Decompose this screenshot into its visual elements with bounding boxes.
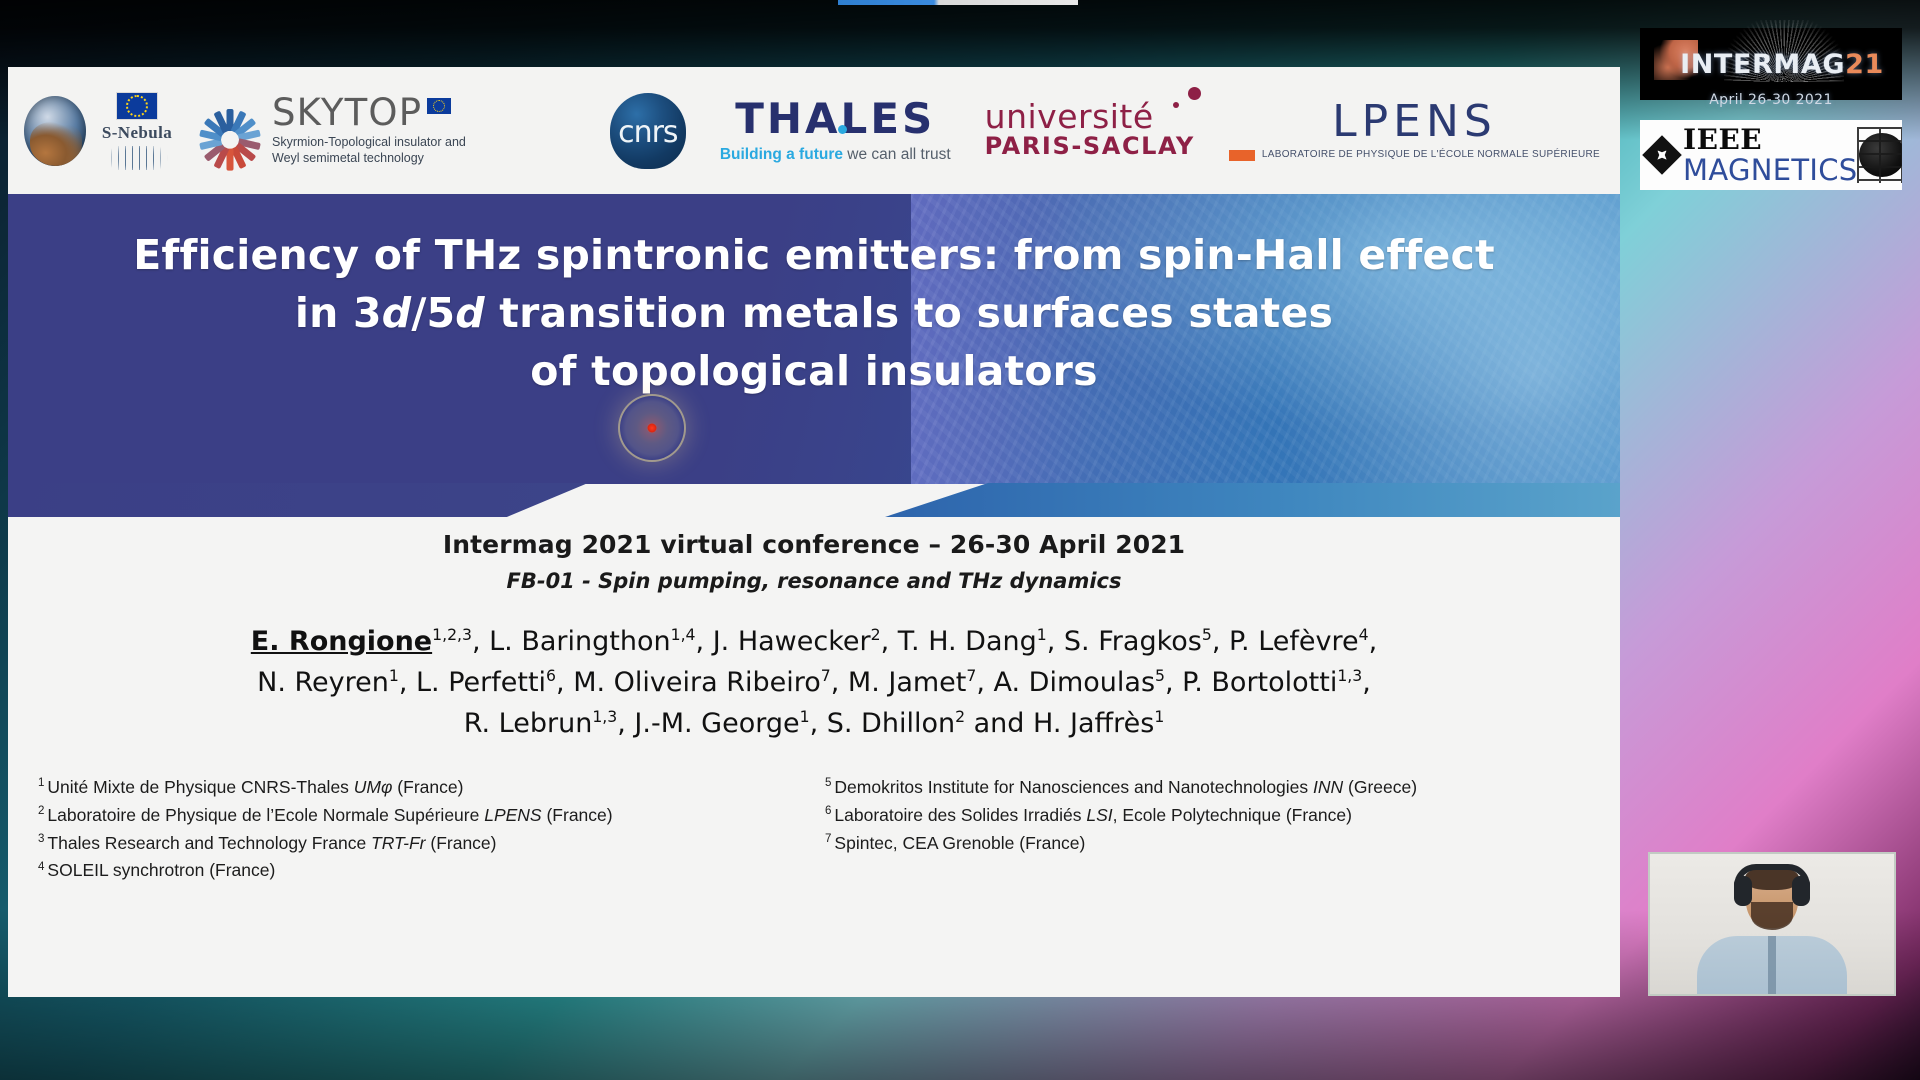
skytop-swirl-icon (198, 96, 262, 166)
author-sup: 1 (389, 666, 399, 685)
affiliation-sup: 7 (825, 833, 831, 845)
title-line-2-italic-d2: d (455, 289, 485, 337)
slide-logo-strip: S-Nebula SKYTOP Skyrmion-Topological ins… (8, 67, 1620, 194)
screen-share-indicator (838, 0, 1078, 5)
affiliation-sup: 4 (38, 861, 44, 873)
author-name: S. Fragkos (1064, 626, 1202, 657)
affiliation-item: 4SOLEIL synchrotron (France) (38, 857, 803, 884)
title-line-1: Efficiency of THz spintronic emitters: f… (133, 231, 1495, 279)
author-name: L. Perfetti (416, 667, 546, 698)
thales-wordmark: THALES (735, 98, 935, 140)
author-name: J. Hawecker (713, 626, 871, 657)
ieee-magnetics-logo: IEEE MAGNETICS (1640, 120, 1902, 190)
author-sup: 1,3 (1337, 666, 1362, 685)
author-sup: 1,4 (671, 625, 696, 644)
ieee-diamond-icon (1642, 135, 1682, 175)
ieee-globe-icon (1857, 127, 1902, 183)
affiliation-country: (France) (392, 777, 463, 797)
author-sup: 1 (1037, 625, 1047, 644)
intermag-wordmark: INTERMAG21 (1680, 49, 1884, 80)
thales-tagline-rest: we can all trust (843, 146, 951, 163)
affiliation-block: 1Unité Mixte de Physique CNRS-Thales UMφ… (34, 774, 1594, 885)
lpens-subtitle: LABORATOIRE DE PHYSIQUE DE L'ÉCOLE NORMA… (1262, 149, 1600, 162)
affiliation-text: SOLEIL synchrotron (France) (47, 860, 275, 880)
intermag-logo: INTERMAG21 (1640, 28, 1902, 100)
author-line-2: N. Reyren1, L. Perfetti6, M. Oliveira Ri… (34, 662, 1594, 703)
author-sup: 1,3 (592, 707, 617, 726)
skytop-logo: SKYTOP Skyrmion-Topological insulator an… (198, 94, 477, 166)
affiliation-sup: 2 (38, 805, 44, 817)
affiliation-sup: 5 (825, 777, 831, 789)
s-nebula-logo: S-Nebula (24, 92, 180, 170)
thales-tagline: Building a future we can all trust (720, 147, 951, 163)
saclay-line2: PARIS-SACLAY (985, 133, 1195, 161)
lead-author-name: E. Rongione (251, 626, 432, 657)
ieee-wordmark-block: IEEE MAGNETICS (1683, 126, 1857, 185)
presenter-shirt-placket (1768, 936, 1776, 994)
laser-pointer-cursor (620, 396, 684, 460)
affiliation-acronym: UMφ (354, 777, 393, 797)
screen-share-stage: S-Nebula SKYTOP Skyrmion-Topological ins… (0, 0, 1920, 1080)
saclay-bubble-small-icon (1173, 102, 1179, 108)
affiliation-country: (Greece) (1343, 777, 1417, 797)
author-sup: 2 (955, 707, 965, 726)
title-line-2-italic-d1: d (382, 289, 412, 337)
saclay-bubble-icon (1188, 87, 1201, 100)
lpens-subtitle-row: LABORATOIRE DE PHYSIQUE DE L'ÉCOLE NORMA… (1229, 149, 1600, 162)
author-sup: 7 (821, 666, 831, 685)
intermag-dates: April 26-30 2021 (1640, 92, 1902, 108)
lpens-wordmark: LPENS (1332, 100, 1497, 144)
author-sup: 5 (1202, 625, 1212, 644)
s-nebula-label: S-Nebula (102, 123, 172, 143)
affiliation-item: 6Laboratoire des Solides Irradiés LSI, E… (825, 802, 1590, 829)
thales-logo: THALES Building a future we can all trus… (720, 98, 951, 163)
s-nebula-text-block: S-Nebula (94, 92, 180, 170)
affiliation-item: 5Demokritos Institute for Nanosciences a… (825, 774, 1590, 801)
presenter-beard (1751, 902, 1793, 930)
author-sup: 1 (1154, 707, 1164, 726)
presentation-slide: S-Nebula SKYTOP Skyrmion-Topological ins… (8, 67, 1620, 997)
affiliation-acronym: LPENS (484, 805, 541, 825)
title-line-2a: in 3 (295, 289, 382, 337)
affiliation-item: 3Thales Research and Technology France T… (38, 830, 803, 857)
affiliation-column-right: 5Demokritos Institute for Nanosciences a… (825, 774, 1590, 885)
affiliation-text: Demokritos Institute for Nanosciences an… (834, 777, 1313, 797)
title-band-notch-right (885, 483, 1620, 517)
slide-title-band: Efficiency of THz spintronic emitters: f… (8, 194, 1620, 484)
affiliation-text: Unité Mixte de Physique CNRS-Thales (47, 777, 353, 797)
author-name: H. Jaffrès (1033, 708, 1154, 739)
presenter-video-tile[interactable] (1648, 852, 1896, 996)
universite-paris-saclay-logo: université PARIS-SACLAY (985, 100, 1195, 161)
cnrs-logo: cnrs (610, 93, 686, 169)
title-line-3: of topological insulators (530, 347, 1097, 395)
author-name: N. Reyren (257, 667, 389, 698)
affiliation-sup: 3 (38, 833, 44, 845)
logo-group-left: S-Nebula SKYTOP Skyrmion-Topological ins… (8, 92, 478, 170)
cnrs-wordmark: cnrs (618, 115, 677, 150)
affiliation-column-left: 1Unité Mixte de Physique CNRS-Thales UMφ… (38, 774, 803, 885)
saclay-line1: université (985, 100, 1154, 133)
author-sup: 6 (546, 666, 556, 685)
intermag-word-main: INTERMAG (1680, 49, 1845, 80)
affiliation-country: , Ecole Polytechnique (France) (1113, 805, 1352, 825)
skytop-subtitle: Skyrmion-Topological insulator and Weyl … (272, 135, 477, 166)
author-name: R. Lebrun (464, 708, 593, 739)
title-line-2c: transition metals to surfaces states (485, 289, 1333, 337)
author-line-1: E. Rongione1,2,3, L. Baringthon1,4, J. H… (34, 621, 1594, 662)
intermag-word-year: 21 (1845, 49, 1884, 80)
eu-flag-icon (427, 98, 451, 114)
affiliation-sup: 1 (38, 777, 44, 789)
author-line-3: R. Lebrun1,3, J.-M. George1, S. Dhillon2… (34, 703, 1594, 744)
affiliation-acronym: INN (1313, 777, 1343, 797)
thales-tagline-bold: Building a future (720, 146, 843, 163)
affiliation-text: Thales Research and Technology France (47, 833, 371, 853)
author-sup: 4 (1359, 625, 1369, 644)
affiliation-sup: 6 (825, 805, 831, 817)
eu-flag-icon (116, 92, 158, 120)
affiliation-text: Laboratoire des Solides Irradiés (834, 805, 1086, 825)
title-line-2b: /5 (411, 289, 455, 337)
thales-wordmark-text: THALES (735, 94, 935, 143)
logo-group-right: cnrs THALES Building a future we can all… (610, 93, 1620, 169)
author-sup: 5 (1155, 666, 1165, 685)
author-name: A. Dimoulas (994, 667, 1156, 698)
affiliation-country: (France) (426, 833, 497, 853)
lpens-orange-bar-icon (1229, 150, 1255, 161)
session-line: FB-01 - Spin pumping, resonance and THz … (34, 569, 1594, 593)
author-sup: 1 (800, 707, 810, 726)
author-sup: 2 (871, 625, 881, 644)
headphone-right-cup-icon (1792, 876, 1810, 906)
magnetics-wordmark: MAGNETICS (1683, 156, 1857, 185)
affiliation-country: (France) (542, 805, 613, 825)
author-name: J.-M. George (634, 708, 799, 739)
affiliation-item: 7Spintec, CEA Grenoble (France) (825, 830, 1590, 857)
lpens-logo: LPENS LABORATOIRE DE PHYSIQUE DE L'ÉCOLE… (1229, 100, 1600, 162)
skytop-wordmark: SKYTOP (272, 94, 422, 131)
s-nebula-globe-icon (24, 96, 86, 166)
author-sup: 7 (966, 666, 976, 685)
conference-line: Intermag 2021 virtual conference – 26-30… (34, 530, 1594, 559)
title-band-notch-left (8, 483, 588, 517)
author-list: E. Rongione1,2,3, L. Baringthon1,4, J. H… (34, 621, 1594, 744)
page-title: Efficiency of THz spintronic emitters: f… (8, 194, 1620, 401)
affiliation-text: Laboratoire de Physique de l’Ecole Norma… (47, 805, 484, 825)
affiliation-item: 2Laboratoire de Physique de l’Ecole Norm… (38, 802, 803, 829)
affiliation-item: 1Unité Mixte de Physique CNRS-Thales UMφ… (38, 774, 803, 801)
headphone-left-cup-icon (1734, 876, 1752, 906)
author-name: S. Dhillon (827, 708, 955, 739)
author-name: P. Lefèvre (1229, 626, 1359, 657)
author-name: L. Baringthon (489, 626, 670, 657)
waveform-icon (94, 146, 180, 170)
author-name: M. Oliveira Ribeiro (573, 667, 821, 698)
author-name: P. Bortolotti (1182, 667, 1337, 698)
affiliation-text: Spintec, CEA Grenoble (France) (834, 833, 1085, 853)
author-name: M. Jamet (848, 667, 966, 698)
skytop-text-block: SKYTOP Skyrmion-Topological insulator an… (272, 94, 477, 166)
affiliation-acronym: LSI (1086, 805, 1112, 825)
lead-author-sup: 1,2,3 (432, 625, 472, 644)
conference-sidebar: INTERMAG21 April 26-30 2021 IEEE MAGNETI… (1620, 0, 1920, 1080)
affiliation-acronym: TRT-Fr (371, 833, 425, 853)
ieee-wordmark: IEEE (1683, 126, 1857, 154)
slide-body: Intermag 2021 virtual conference – 26-30… (8, 484, 1620, 885)
author-name: T. H. Dang (898, 626, 1037, 657)
